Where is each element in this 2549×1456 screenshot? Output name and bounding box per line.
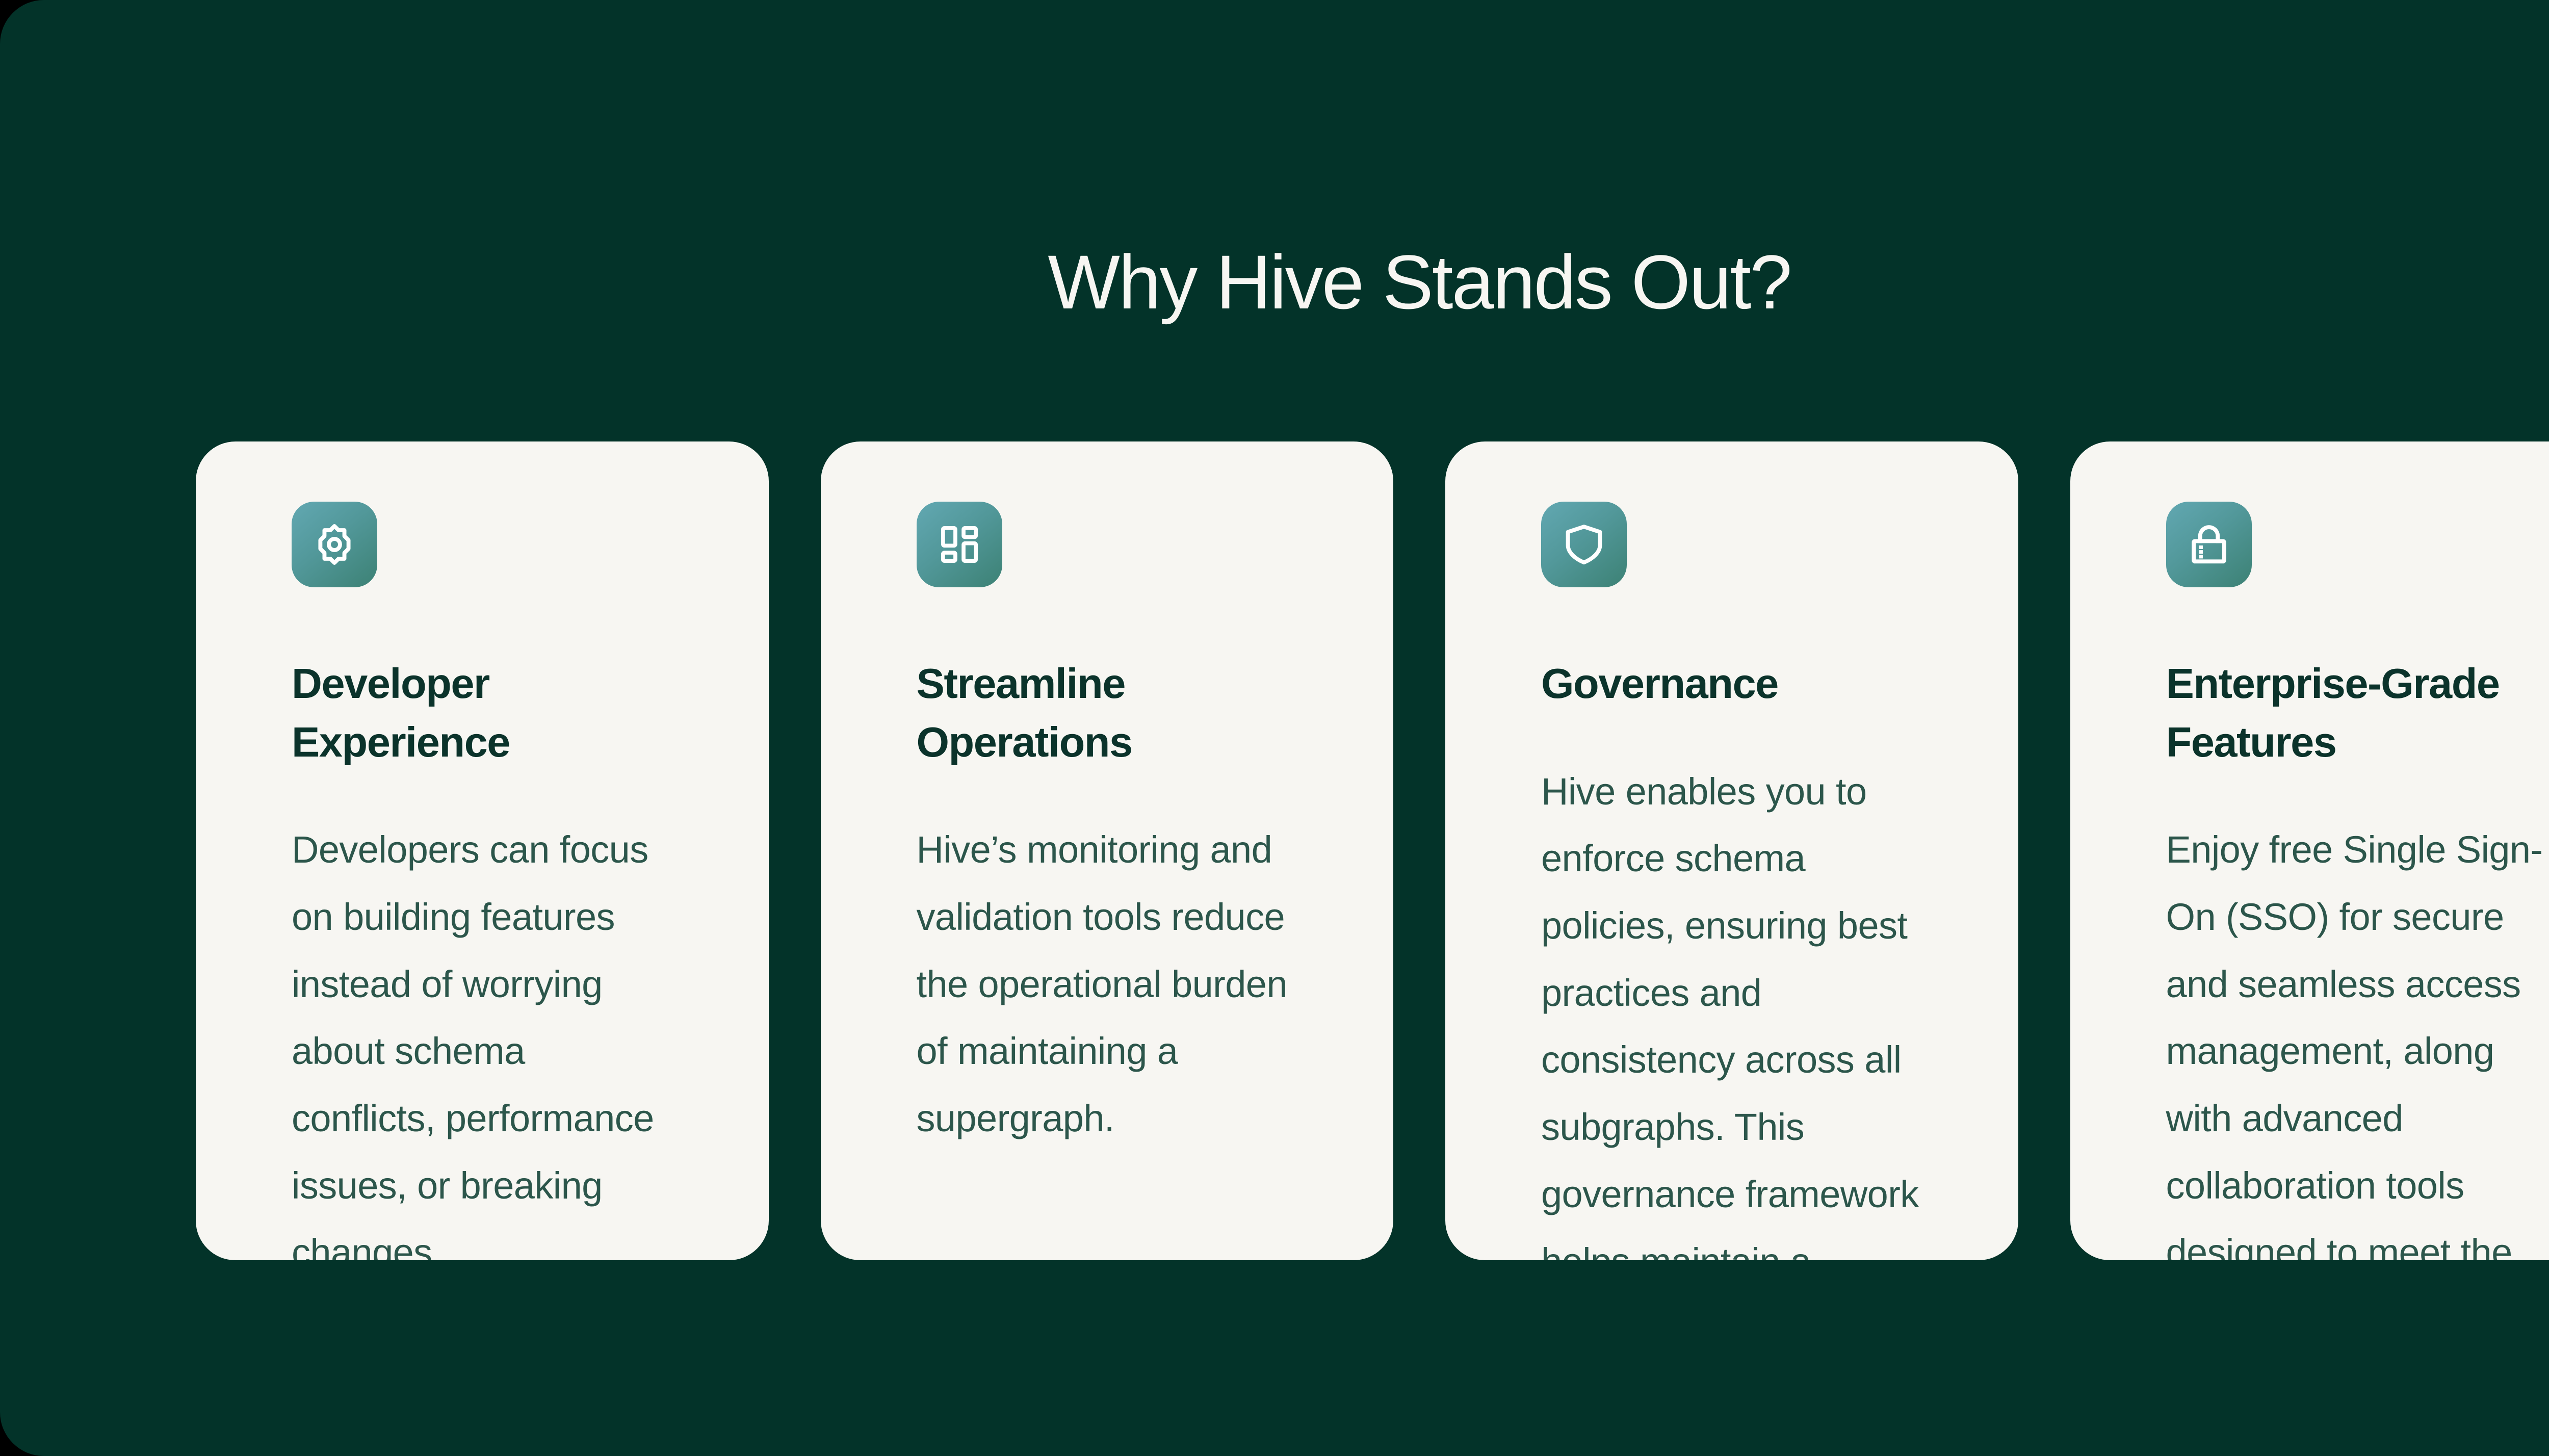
page-title: Why Hive Stands Out? [0,240,2549,324]
dashboard-layout-icon [917,502,1002,587]
card-body: Developers can focus on building feature… [292,816,672,1260]
feature-card[interactable]: Streamline Operations Hive’s monitoring … [821,441,1394,1260]
feature-section: Why Hive Stands Out? Developer Experienc… [0,0,2549,1456]
card-title: Governance [1541,655,1778,713]
card-body: Enjoy free Single Sign-On (SSO) for secu… [2166,816,2549,1260]
shield-icon [1541,502,1627,587]
card-body: Hive enables you to enforce schema polic… [1541,758,1922,1260]
feature-card[interactable]: Enterprise-Grade Features Enjoy free Sin… [2070,441,2549,1260]
feature-card-list: Developer Experience Developers can focu… [196,441,2549,1260]
card-title: Developer Experience [292,655,596,771]
feature-card[interactable]: Developer Experience Developers can focu… [196,441,769,1260]
card-title: Enterprise-Grade Features [2166,655,2549,771]
gear-icon [292,502,377,587]
lock-icon [2166,502,2252,587]
card-title: Streamline Operations [917,655,1221,771]
card-body: Hive’s monitoring and validation tools r… [917,816,1316,1152]
feature-card[interactable]: Governance Hive enables you to enforce s… [1445,441,2018,1260]
